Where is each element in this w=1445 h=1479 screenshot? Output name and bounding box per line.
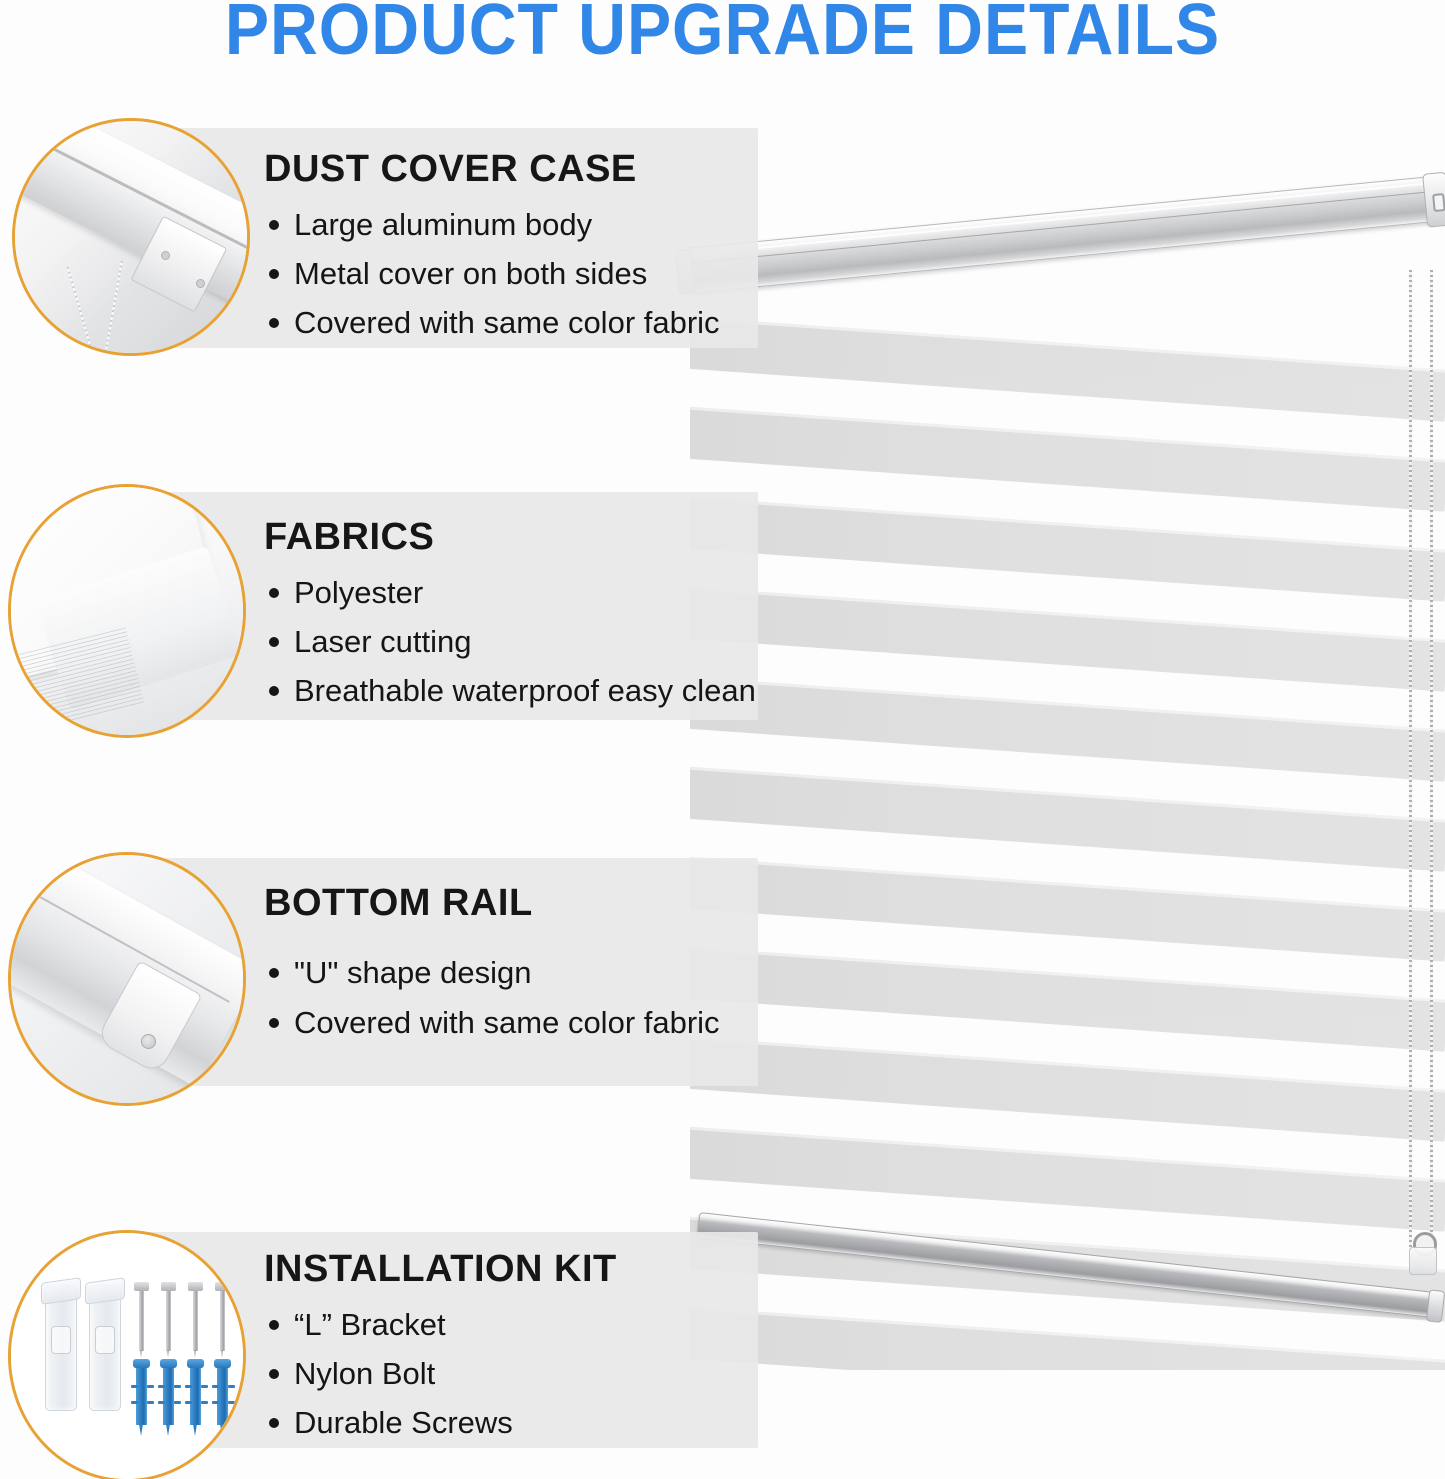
section-heading: INSTALLATION KIT bbox=[264, 1248, 617, 1291]
headrail-right-endcap bbox=[1422, 172, 1445, 228]
fabric-stripe bbox=[690, 854, 1445, 962]
section-heading: DUST COVER CASE bbox=[264, 148, 637, 191]
nylon-anchor-icon bbox=[190, 1363, 201, 1425]
zebra-roller-blind-photo bbox=[660, 190, 1445, 1350]
screw-icon bbox=[139, 1289, 144, 1351]
section-bullet-list: "U" shape design Covered with same color… bbox=[264, 948, 720, 1048]
section-bullet-list: Large aluminum body Metal cover on both … bbox=[264, 200, 720, 347]
list-item: Polyester bbox=[264, 568, 756, 617]
page-title: PRODUCT UPGRADE DETAILS bbox=[58, 0, 1387, 66]
chain-strand-right bbox=[1430, 270, 1433, 1250]
list-item: Metal cover on both sides bbox=[264, 249, 720, 298]
fabric-stripe bbox=[690, 1124, 1445, 1232]
list-item: Durable Screws bbox=[264, 1398, 513, 1447]
list-item: "U" shape design bbox=[264, 948, 720, 998]
tensioner-body bbox=[1409, 1247, 1437, 1275]
section-heading: FABRICS bbox=[264, 516, 434, 559]
section-bullet-list: “L” Bracket Nylon Bolt Durable Screws bbox=[264, 1300, 513, 1447]
bottom-rail-endcap bbox=[1426, 1289, 1445, 1323]
fabric-stripe bbox=[690, 314, 1445, 422]
fabric-stripe bbox=[690, 1034, 1445, 1142]
l-bracket-icon bbox=[45, 1285, 77, 1411]
infographic-canvas: PRODUCT UPGRADE DETAILS bbox=[0, 0, 1445, 1479]
fabric-stripe bbox=[690, 764, 1445, 872]
zebra-striped-fabric bbox=[690, 250, 1445, 1370]
list-item: Covered with same color fabric bbox=[264, 998, 720, 1048]
screw-icon bbox=[193, 1289, 198, 1351]
list-item: “L” Bracket bbox=[264, 1300, 513, 1349]
nylon-anchor-icon bbox=[217, 1363, 228, 1425]
fabric-stripe bbox=[690, 944, 1445, 1052]
fabric-stripe bbox=[690, 674, 1445, 782]
list-item: Laser cutting bbox=[264, 617, 756, 666]
chain-mount-icon bbox=[1432, 193, 1445, 212]
nylon-anchor-icon bbox=[136, 1363, 147, 1425]
list-item: Large aluminum body bbox=[264, 200, 720, 249]
bottom-rail-closeup-photo bbox=[8, 852, 246, 1106]
fabric-stripe bbox=[690, 1304, 1445, 1370]
screw-icon bbox=[166, 1289, 171, 1351]
list-item: Nylon Bolt bbox=[264, 1349, 513, 1398]
installation-hardware-photo bbox=[8, 1230, 246, 1479]
section-heading: BOTTOM RAIL bbox=[264, 882, 533, 925]
fabric-stripe bbox=[690, 404, 1445, 512]
section-bullet-list: Polyester Laser cutting Breathable water… bbox=[264, 568, 756, 715]
bead-chain-control bbox=[1405, 270, 1439, 1270]
screw-icon bbox=[220, 1289, 225, 1351]
chain-strand-left bbox=[1409, 270, 1412, 1250]
nylon-anchor-icon bbox=[163, 1363, 174, 1425]
chain-tensioner bbox=[1407, 1232, 1437, 1276]
list-item: Breathable waterproof easy clean bbox=[264, 666, 756, 715]
fabric-stripe bbox=[690, 584, 1445, 692]
l-bracket-icon bbox=[89, 1285, 121, 1411]
list-item: Covered with same color fabric bbox=[264, 298, 720, 347]
fabric-stripe bbox=[690, 494, 1445, 602]
aluminum-headrail-closeup-photo bbox=[12, 118, 250, 356]
fabric-swatch-closeup-photo bbox=[8, 484, 246, 738]
